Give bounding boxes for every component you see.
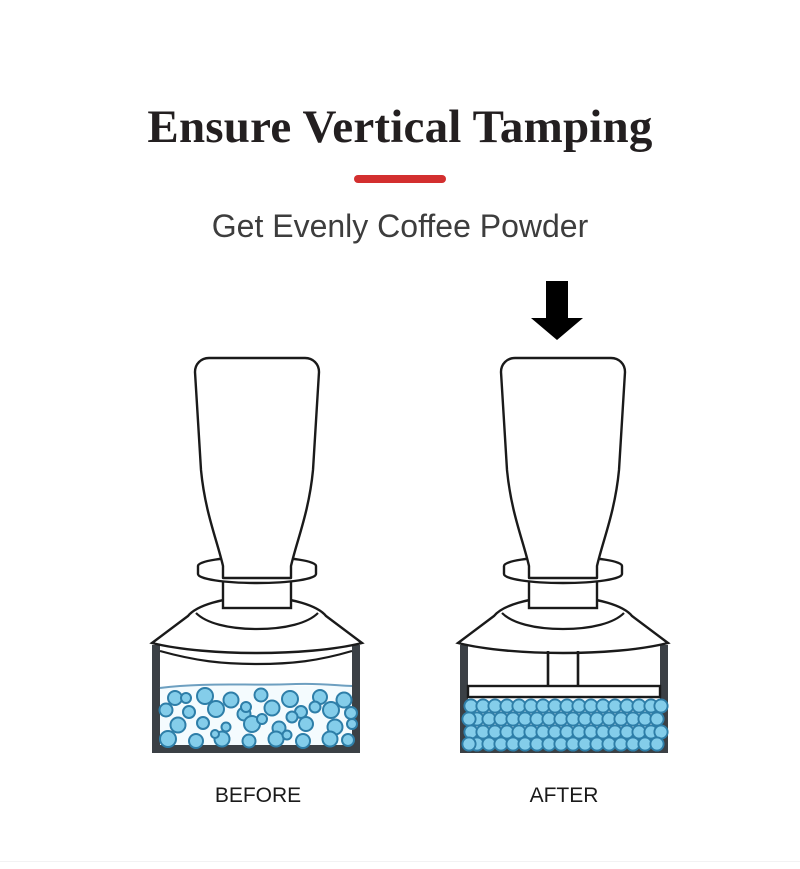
infographic-page: Ensure Vertical Tamping Get Evenly Coffe… [0,0,800,869]
panel-before [152,358,362,753]
tamper-after [458,358,668,697]
footer-divider [0,861,800,862]
panel-after [458,358,668,753]
tamping-illustration [0,0,800,869]
caption-after: AFTER [462,783,666,809]
arrow-down-icon [531,281,583,340]
caption-before: BEFORE [156,783,360,809]
coffee-grounds-after [462,699,667,750]
tamper-plate [468,686,660,697]
tamping-diagram-svg [0,0,800,869]
tamper-before [152,358,362,664]
